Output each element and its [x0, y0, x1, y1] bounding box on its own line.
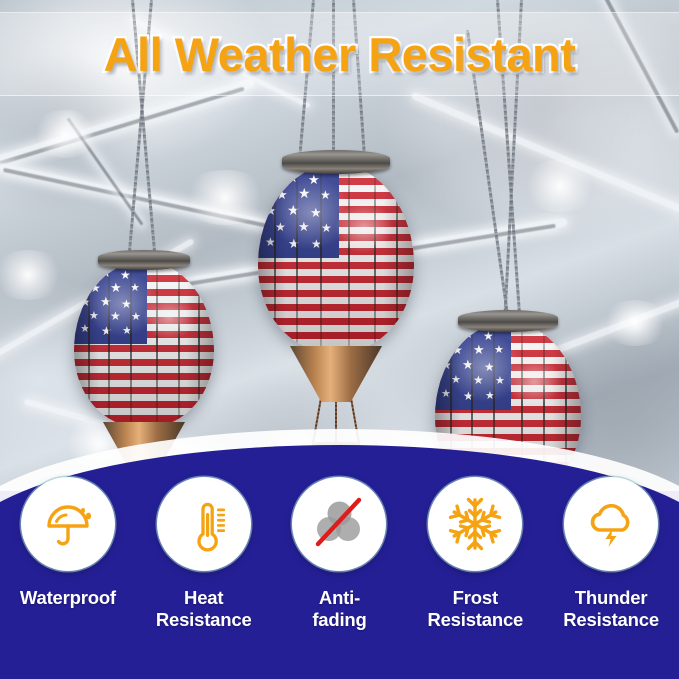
umbrella-icon: [40, 496, 96, 552]
lantern-cap: [282, 150, 390, 174]
anti-fading-icon: [309, 494, 369, 554]
thundercloud-icon: [582, 495, 640, 553]
page-title: All Weather Resistant: [104, 27, 576, 82]
features-list: Waterproof: [0, 491, 679, 679]
feature-icon-circle: [292, 477, 386, 571]
lantern-globe-flag: ★ ★ ★ ★ ★ ★ ★ ★ ★ ★ ★ ★ ★ ★ ★: [74, 261, 214, 427]
lantern-cone: [290, 346, 382, 402]
thermometer-icon: [176, 496, 232, 552]
feature-icon-circle: [157, 477, 251, 571]
feature-heat-resistance[interactable]: HeatResistance: [136, 491, 272, 679]
feature-anti-fading[interactable]: Anti-fading: [272, 491, 408, 679]
feature-label: HeatResistance: [156, 587, 252, 630]
lantern-globe-flag: ★ ★ ★ ★ ★ ★ ★ ★ ★ ★ ★ ★ ★ ★ ★: [258, 164, 414, 352]
feature-thunder-resistance[interactable]: ThunderResistance: [543, 491, 679, 679]
product-marketing-poster: ★ ★ ★ ★ ★ ★ ★ ★ ★ ★ ★ ★ ★ ★ ★: [0, 0, 679, 679]
snowflake-icon: [446, 495, 504, 553]
feature-label: ThunderResistance: [563, 587, 659, 630]
lantern-cap: [98, 250, 190, 270]
feature-waterproof[interactable]: Waterproof: [0, 491, 136, 679]
feature-label: FrostResistance: [427, 587, 523, 630]
feature-label: Anti-fading: [312, 587, 366, 630]
feature-label: Waterproof: [20, 587, 116, 609]
features-panel: Waterproof: [0, 491, 679, 679]
feature-icon-circle: [21, 477, 115, 571]
feature-icon-circle: [564, 477, 658, 571]
feature-icon-circle: [428, 477, 522, 571]
lantern-cap: [458, 310, 558, 332]
title-banner: All Weather Resistant: [0, 12, 679, 96]
feature-frost-resistance[interactable]: FrostResistance: [407, 491, 543, 679]
